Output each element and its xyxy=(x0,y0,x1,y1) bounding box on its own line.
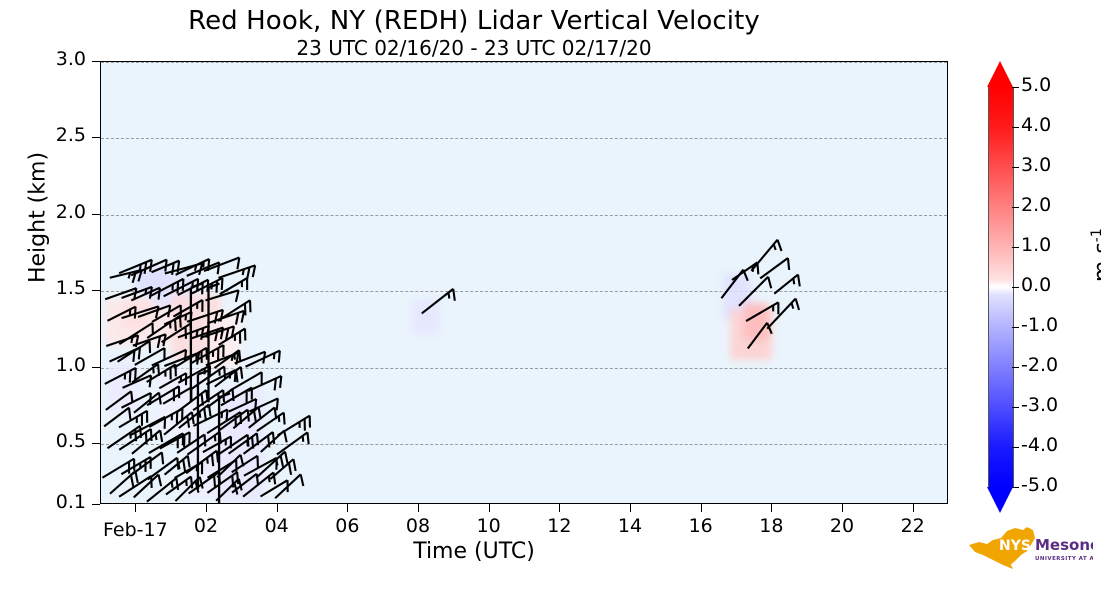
colorbar-tick-label: 3.0 xyxy=(1021,154,1051,176)
x-axis-tick xyxy=(701,504,702,512)
x-axis-tick xyxy=(418,504,419,512)
wind-barb xyxy=(105,368,136,384)
wind-barb xyxy=(207,412,241,433)
colorbar-tick xyxy=(1012,127,1019,128)
wind-barb xyxy=(748,323,772,349)
colorbar-tick xyxy=(1012,447,1019,448)
x-axis-tick-label: 16 xyxy=(661,515,741,537)
colorbar-tick xyxy=(1012,87,1019,88)
x-axis-tick xyxy=(135,504,136,512)
colorbar-unit-label: m s-1 xyxy=(1089,195,1101,315)
wind-barb xyxy=(218,435,248,455)
x-axis-tick-label: 08 xyxy=(378,515,458,537)
y-axis-tick-label: 0.5 xyxy=(8,430,86,452)
colorbar-tick xyxy=(1012,287,1019,288)
colorbar-gradient xyxy=(988,87,1014,487)
y-axis-tick-label: 0.1 xyxy=(8,491,86,513)
x-axis-tick-label: 18 xyxy=(731,515,811,537)
colorbar xyxy=(988,61,1012,505)
wind-barb xyxy=(107,307,135,321)
colorbar-extend-max-arrow xyxy=(987,61,1013,87)
colorbar-tick-label: -4.0 xyxy=(1021,434,1058,456)
x-axis-title: Time (UTC) xyxy=(0,539,948,564)
logo-mesonet-text: Mesonet xyxy=(1035,536,1093,554)
chart-title: Red Hook, NY (REDH) Lidar Vertical Veloc… xyxy=(0,6,948,36)
wind-barb xyxy=(732,262,758,280)
wind-barb xyxy=(147,386,179,405)
colorbar-tick-label: -5.0 xyxy=(1021,474,1058,496)
wind-barb xyxy=(746,302,778,321)
colorbar-tick-label: 2.0 xyxy=(1021,194,1051,216)
colorbar-tick xyxy=(1012,327,1019,328)
colorbar-tick-label: 1.0 xyxy=(1021,234,1051,256)
x-axis-tick xyxy=(630,504,631,512)
colorbar-tick-label: -3.0 xyxy=(1021,394,1058,416)
colorbar-tick xyxy=(1012,167,1019,168)
colorbar-tick xyxy=(1012,367,1019,368)
x-axis-tick xyxy=(206,504,207,512)
wind-barb xyxy=(767,299,799,329)
wind-barb-overlay xyxy=(101,62,947,504)
x-axis-tick-label: 02 xyxy=(166,515,246,537)
wind-barb xyxy=(107,426,141,448)
x-axis-tick xyxy=(277,504,278,512)
colorbar-tick-label: -1.0 xyxy=(1021,314,1058,336)
colorbar-tick xyxy=(1012,247,1019,248)
colorbar-tick-label: 4.0 xyxy=(1021,114,1051,136)
colorbar-unit-text: m s xyxy=(1090,242,1101,282)
x-axis-tick-label: 22 xyxy=(873,515,953,537)
wind-barb xyxy=(232,474,258,493)
x-axis-tick xyxy=(771,504,772,512)
wind-barb xyxy=(277,432,309,454)
x-axis-tick xyxy=(913,504,914,512)
colorbar-extend-min-arrow xyxy=(987,487,1013,513)
colorbar-tick xyxy=(1012,407,1019,408)
x-axis-tick-label: 20 xyxy=(802,515,882,537)
wind-barb xyxy=(198,370,209,489)
nys-mesonet-logo[interactable]: NYS Mesonet UNIVERSITY AT ALBANY xyxy=(963,521,1093,577)
wind-barb xyxy=(176,259,210,275)
wind-barb xyxy=(760,258,789,278)
colorbar-tick xyxy=(1012,207,1019,208)
wind-barb xyxy=(163,387,191,403)
x-axis-tick xyxy=(489,504,490,512)
colorbar-tick-label: 5.0 xyxy=(1021,74,1051,96)
colorbar-tick xyxy=(1012,487,1019,488)
x-axis-tick xyxy=(347,504,348,512)
x-axis-tick xyxy=(842,504,843,512)
x-axis-tick-label: 04 xyxy=(237,515,317,537)
y-axis-tick xyxy=(92,290,100,291)
logo-tagline-text: UNIVERSITY AT ALBANY xyxy=(1035,556,1093,562)
plot-area xyxy=(100,61,948,504)
x-axis-tick-label: 10 xyxy=(449,515,529,537)
colorbar-tick-label: -2.0 xyxy=(1021,354,1058,376)
wind-barb xyxy=(422,289,455,314)
wind-barb xyxy=(739,277,771,306)
wind-barb xyxy=(217,455,243,478)
x-axis-tick-label: 14 xyxy=(590,515,670,537)
wind-barb xyxy=(721,270,747,299)
chart-subtitle: 23 UTC 02/16/20 - 23 UTC 02/17/20 xyxy=(0,36,948,60)
x-axis-tick-label: 12 xyxy=(519,515,599,537)
y-axis-tick xyxy=(92,367,100,368)
y-axis-tick xyxy=(92,61,100,62)
colorbar-tick-label: 0.0 xyxy=(1021,274,1051,296)
y-axis-tick xyxy=(92,443,100,444)
y-axis-tick-label: 1.0 xyxy=(8,354,86,376)
wind-barb xyxy=(278,416,310,436)
wind-barb xyxy=(774,275,800,294)
y-axis-tick xyxy=(92,214,100,215)
colorbar-unit-exponent: -1 xyxy=(1089,228,1101,242)
figure-root: Red Hook, NY (REDH) Lidar Vertical Veloc… xyxy=(0,0,1101,600)
wind-barb xyxy=(147,364,176,382)
x-axis-tick xyxy=(559,504,560,512)
y-axis-title: Height (km) xyxy=(26,93,51,343)
y-axis-tick-label: 3.0 xyxy=(8,48,86,70)
x-axis-tick-label: Feb-17 xyxy=(95,519,175,541)
wind-barb xyxy=(187,310,223,324)
x-axis-tick-label: 06 xyxy=(307,515,387,537)
logo-nys-text: NYS xyxy=(999,538,1031,554)
wind-barb xyxy=(166,476,192,494)
wind-barb xyxy=(110,471,138,494)
y-axis-tick xyxy=(92,137,100,138)
y-axis-tick xyxy=(92,504,100,505)
